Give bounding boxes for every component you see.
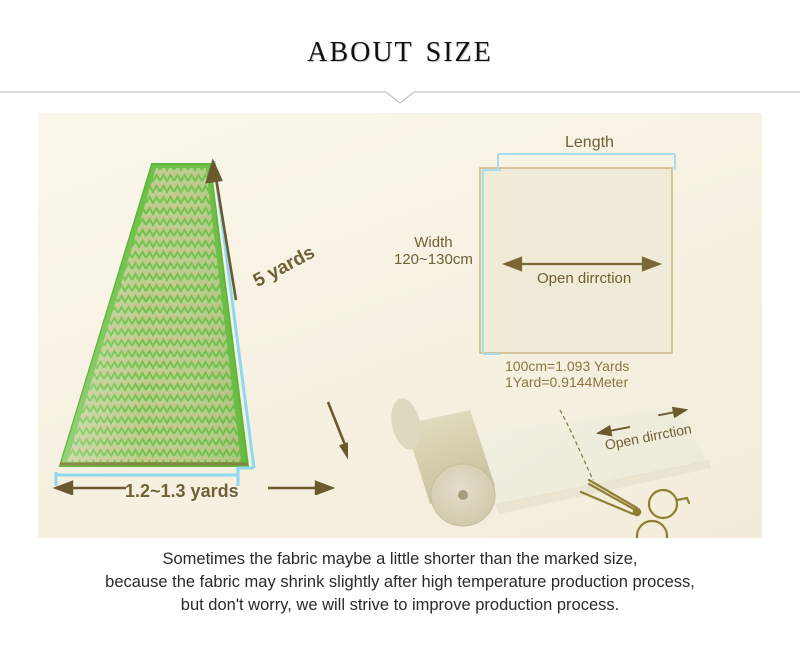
scissor-handle-upper <box>649 490 677 518</box>
scissor-pivot <box>634 509 640 515</box>
label-width-line1: Width <box>394 234 473 251</box>
conversion-line-1: 100cm=1.093 Yards <box>505 358 629 374</box>
header-divider <box>0 88 800 104</box>
caption-line-2: because the fabric may shrink slightly a… <box>0 571 800 594</box>
page-title: About Size <box>0 24 800 71</box>
label-width-line2: 120~130cm <box>394 251 473 268</box>
label-length: Length <box>565 134 614 152</box>
caption-line-1: Sometimes the fabric maybe a little shor… <box>0 548 800 571</box>
caption-line-3: but don't worry, we will strive to impro… <box>0 594 800 617</box>
scissor-handle-lower <box>637 521 667 538</box>
disclaimer-caption: Sometimes the fabric maybe a little shor… <box>0 548 800 617</box>
label-unit-conversion: 100cm=1.093 Yards 1Yard=0.9144Meter <box>505 358 629 390</box>
label-open-direction-rect: Open dirrction <box>537 270 631 287</box>
roll-center-hole <box>458 490 468 500</box>
label-width: Width 120~130cm <box>394 234 473 268</box>
length-arrow-down <box>328 402 348 462</box>
fabric-trapezoid-illustration <box>48 150 348 495</box>
about-size-infographic: About Size <box>0 0 800 668</box>
fabric-roll-cylinder <box>387 396 495 526</box>
fabric-roll-illustration <box>375 388 730 538</box>
width-arrow-right <box>268 482 332 494</box>
label-width-yards: 1.2~1.3 yards <box>125 481 239 502</box>
width-arrow-left <box>56 482 126 494</box>
scissors-icon <box>581 480 689 538</box>
